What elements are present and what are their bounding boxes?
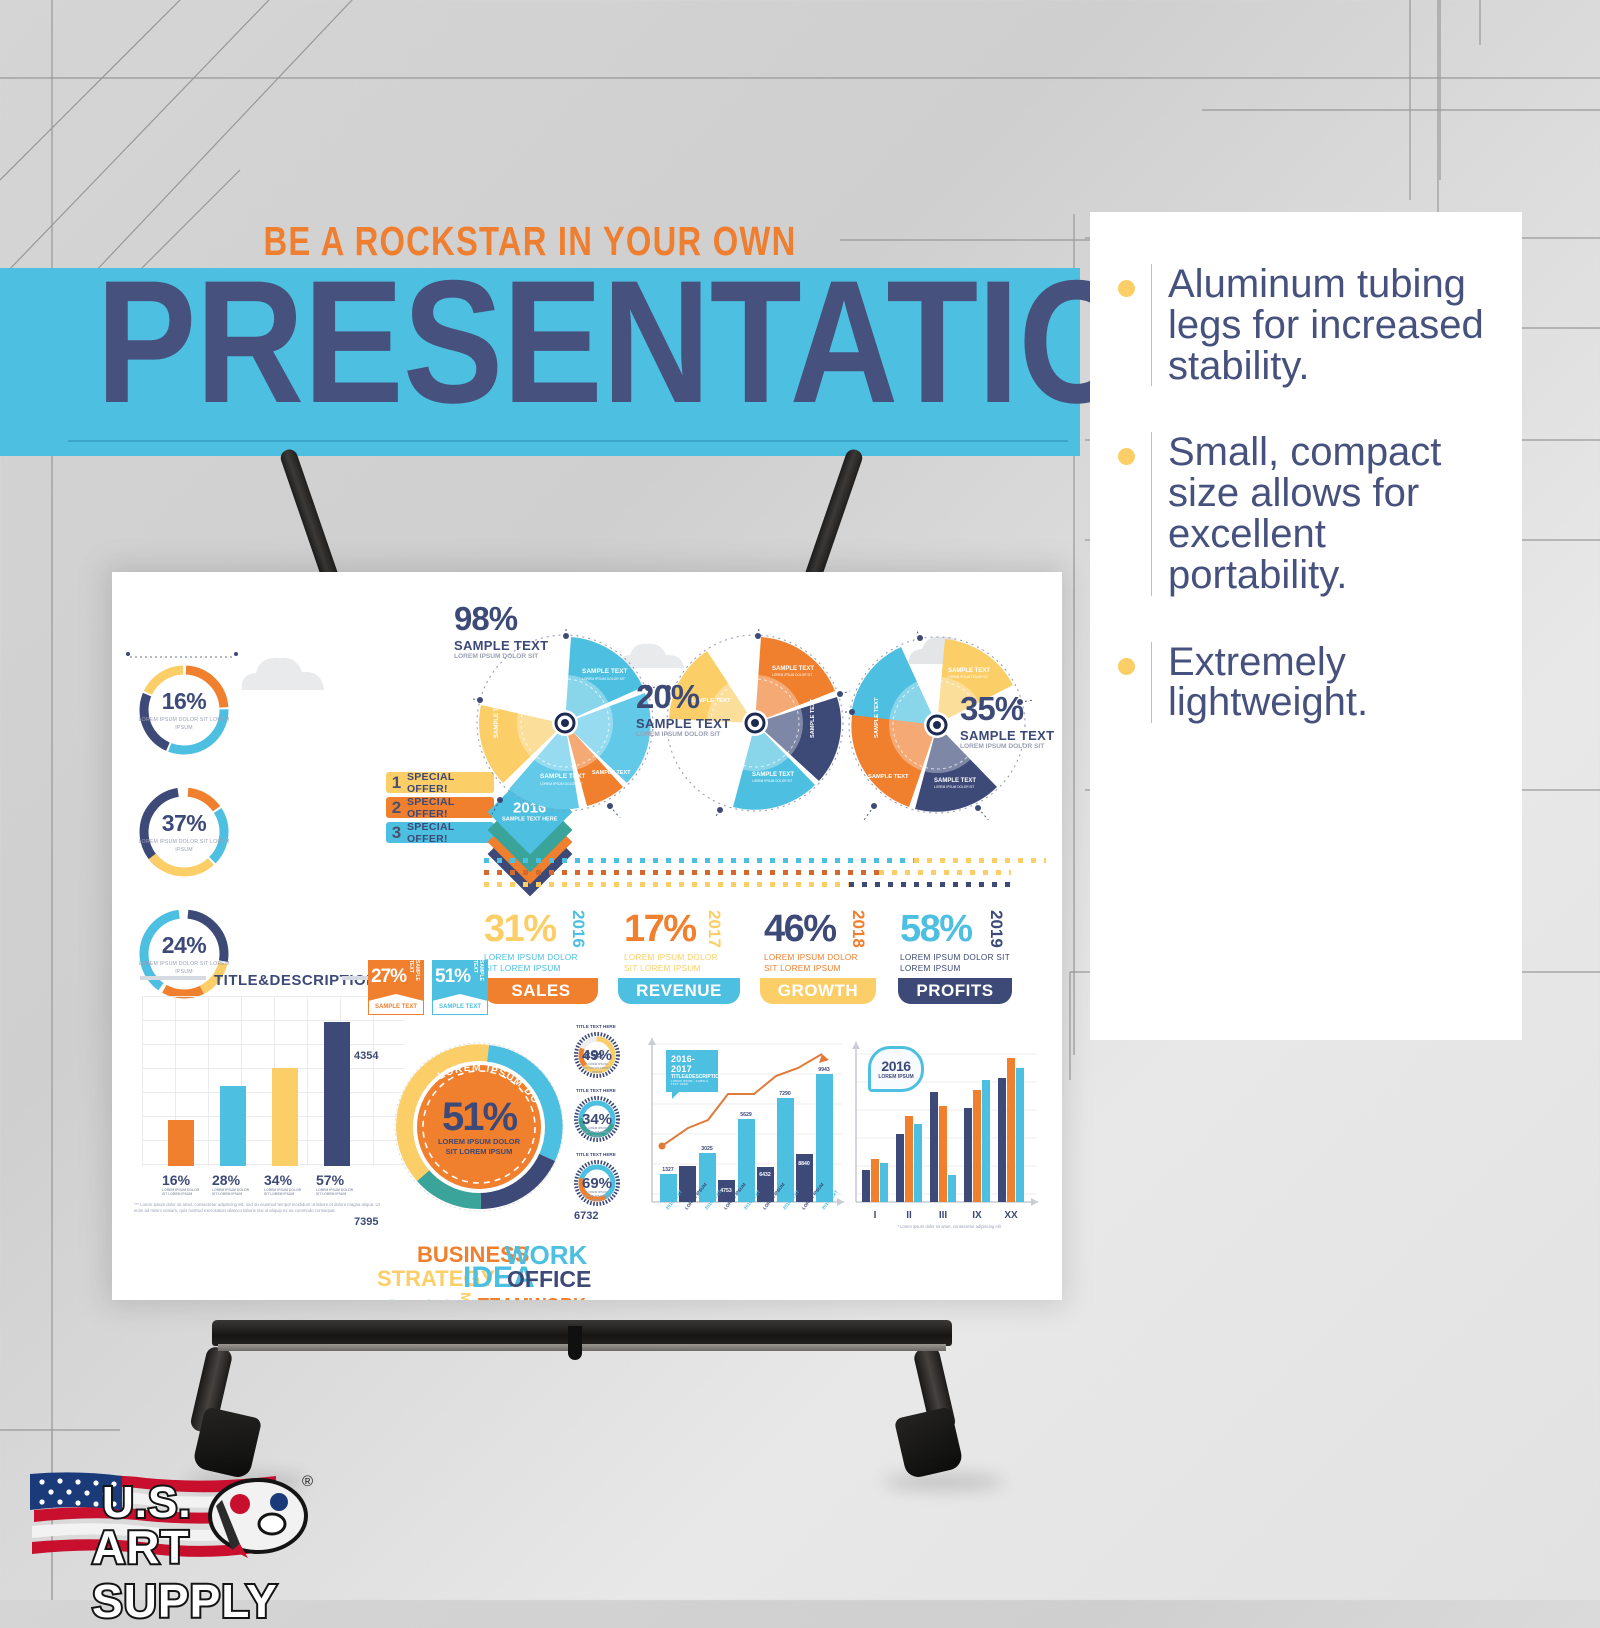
svg-text:2123: 2123 — [681, 1159, 693, 1165]
footnote-left: *** Lorem ipsum dolor sit amet, consecte… — [134, 1202, 384, 1214]
easel-upper-leg-right — [803, 447, 865, 585]
gauge-title: TITLE TEXT HERE — [576, 1152, 616, 1157]
offer-number: 3 — [386, 823, 407, 843]
radial-label: SAMPLE TEXT — [960, 728, 1054, 743]
bar-label: 16% — [162, 1172, 190, 1188]
bar-label: 57% — [316, 1172, 344, 1188]
svg-text:3025: 3025 — [701, 1146, 713, 1152]
donut-caption: LOREM IPSUM DOLOR SIT LOREM IPSUM — [138, 839, 230, 853]
offer-label: SPECIAL OFFER! — [407, 821, 494, 845]
svg-text:SAMPLE TEXT: SAMPLE TEXT — [934, 778, 976, 784]
donut-chart-1: 16%LOREM IPSUM DOLOR SIT LOREM IPSUM — [138, 664, 230, 756]
list-item: Small, compact size allows for excellent… — [1118, 432, 1506, 595]
gauge-69: 69% LOREM IPSUM DOLOR SIT LOREM IPSUM — [574, 1160, 620, 1206]
grouped-chart-subtitle: LOREM IPSUM — [878, 1074, 913, 1080]
bar-sublabel: LOREM IPSUM DOLOR SIT LOREM IPSUM — [264, 1188, 306, 1196]
bar-label: 28% — [212, 1172, 240, 1188]
kpi-revenue: 17% 2017 LOREM IPSUM DOLOR SIT LOREM IPS… — [624, 908, 732, 974]
kpi-pct: 58% — [900, 908, 972, 950]
easel-upper-leg-left — [278, 447, 340, 585]
list-item: Extremely lightweight. — [1118, 642, 1506, 724]
hero-callout-br: 6732 — [574, 1210, 598, 1222]
bar — [324, 1022, 350, 1166]
feature-text: Small, compact size allows for excellent… — [1151, 432, 1506, 595]
svg-text:8840: 8840 — [798, 1161, 810, 1167]
kpi-sub: LOREM IPSUM DOLOR SIT LOREM IPSUM — [624, 953, 732, 974]
kpi-year: 2016 — [568, 910, 588, 948]
bullet-dot-icon — [1118, 448, 1135, 465]
svg-text:III: III — [939, 1210, 948, 1221]
svg-text:II: II — [906, 1210, 912, 1221]
svg-text:7290: 7290 — [779, 1091, 791, 1097]
kpi-category-growth: GROWTH — [760, 978, 876, 1004]
kpi-year: 2017 — [704, 910, 724, 948]
donut-value: 37% — [162, 810, 207, 837]
kpi-category-sales: SALES — [484, 978, 598, 1004]
hero-value: 51% — [442, 1097, 516, 1137]
tag-27: 27% SAMPLE TEXT SAMPLE TEXT — [368, 960, 424, 1015]
svg-text:4753: 4753 — [720, 1188, 732, 1194]
donut-chart-2: 37%LOREM IPSUM DOLOR SIT LOREM IPSUM — [138, 786, 230, 878]
radial-sub: LOREM IPSUM DOLOR SIT — [636, 731, 730, 739]
svg-text:9943: 9943 — [818, 1067, 830, 1073]
hero-callout-tl: 4354 — [354, 1050, 378, 1062]
page-title: PRESENTATION — [96, 260, 922, 426]
gauge-title: TITLE TEXT HERE — [576, 1088, 616, 1093]
gauge-49: 49% LOREM IPSUM DOLOR SIT LOREM IPSUM — [574, 1032, 620, 1078]
kpi-sub: LOREM IPSUM DOLOR SIT LOREM IPSUM — [484, 953, 592, 974]
headline-area: BE A ROCKSTAR IN YOUR OWN PRESENTATION — [0, 200, 1080, 460]
radial-value: 98% — [454, 600, 548, 638]
title-underline — [68, 440, 1068, 442]
svg-text:XX: XX — [1004, 1210, 1018, 1221]
tag-caption: SAMPLE TEXT — [375, 1004, 417, 1010]
infographic-poster: 16%LOREM IPSUM DOLOR SIT LOREM IPSUM 37%… — [112, 572, 1062, 1300]
svg-text:SAMPLE TEXT: SAMPLE TEXT — [592, 770, 631, 776]
radial-sub: LOREM IPSUM DOLOR SIT — [960, 743, 1054, 751]
tag-51: 51% SAMPLE TEXT SAMPLE TEXT — [432, 960, 488, 1015]
svg-text:LOREM IPSUM DOLOR SIT: LOREM IPSUM DOLOR SIT — [540, 782, 583, 786]
combo-chart-title: 2016-2017 — [671, 1054, 713, 1074]
hero-callout-bl: 7395 — [354, 1216, 378, 1228]
kpi-sales: 31% 2016 LOREM IPSUM DOLOR SIT LOREM IPS… — [484, 908, 592, 974]
feature-text: Aluminum tubing legs for increased stabi… — [1151, 264, 1506, 386]
svg-text:SAMPLE TEXT: SAMPLE TEXT — [582, 668, 628, 675]
bullet-dot-icon — [1118, 658, 1135, 675]
svg-text:I: I — [874, 1210, 877, 1221]
tag-side: SAMPLE TEXT — [472, 960, 484, 994]
svg-text:SAMPLE TEXT: SAMPLE TEXT — [948, 668, 990, 674]
kpi-year: 2018 — [848, 910, 868, 948]
radial-35-label: 35% SAMPLE TEXT LOREM IPSUM DOLOR SIT — [960, 690, 1054, 751]
svg-text:SAMPLE TEXT: SAMPLE TEXT — [752, 772, 794, 778]
bar — [220, 1086, 246, 1166]
kpi-year: 2019 — [986, 910, 1006, 948]
radial-label: SAMPLE TEXT — [636, 716, 730, 731]
special-offer-row-3[interactable]: 3 SPECIAL OFFER! — [386, 822, 494, 843]
svg-text:SAMPLE TEXT: SAMPLE TEXT — [874, 697, 880, 738]
svg-text:LOREM IPSUM DOLOR SIT: LOREM IPSUM DOLOR SIT — [934, 785, 974, 789]
tag-caption: SAMPLE TEXT — [439, 1004, 481, 1010]
wordcloud-word: TEAMWORK — [478, 1296, 586, 1300]
list-item: Aluminum tubing legs for increased stabi… — [1118, 264, 1506, 386]
kpi-sub: LOREM IPSUM DOLOR SIT LOREM IPSUM — [900, 953, 1012, 974]
bar — [272, 1068, 298, 1166]
radial-value: 20% — [636, 678, 730, 716]
bar — [168, 1120, 194, 1166]
kpi-category-profits: PROFITS — [898, 978, 1012, 1004]
radial-20-label: 20% SAMPLE TEXT LOREM IPSUM DOLOR SIT — [636, 678, 730, 739]
tag-value: 27% — [371, 966, 406, 988]
wordcloud-word: MEETING — [459, 1292, 473, 1300]
svg-text:SAMPLE TEXT: SAMPLE TEXT — [540, 773, 586, 780]
bar-chart-1 — [142, 996, 404, 1166]
svg-text:SAMPLE TEXT: SAMPLE TEXT — [810, 698, 816, 738]
offer-number: 2 — [386, 798, 407, 818]
grouped-bar-chart-2016: IIIIIIIXXX — [836, 1024, 1050, 1236]
gauge-sub: LOREM IPSUM DOLOR SIT LOREM IPSUM — [581, 1190, 613, 1202]
svg-text:SAMPLE TEXT: SAMPLE TEXT — [494, 696, 500, 738]
svg-text:5629: 5629 — [740, 1112, 752, 1118]
svg-text:LOREM IPSUM DOLOR SIT: LOREM IPSUM DOLOR SIT — [582, 677, 625, 681]
kpi-profits: 58% 2019 LOREM IPSUM DOLOR SIT LOREM IPS… — [900, 908, 1012, 974]
wordcloud-word: OFFICE — [507, 1268, 591, 1291]
kpi-pct: 17% — [624, 908, 696, 950]
kpi-growth: 46% 2018 LOREM IPSUM DOLOR SIT LOREM IPS… — [764, 908, 872, 974]
presentation-board: 16%LOREM IPSUM DOLOR SIT LOREM IPSUM 37%… — [112, 572, 1062, 1300]
svg-text:6432: 6432 — [759, 1172, 771, 1178]
grouped-chart-title: 2016 — [881, 1058, 910, 1074]
feature-text: Extremely lightweight. — [1151, 642, 1506, 724]
svg-text:IX: IX — [972, 1210, 982, 1221]
tag-value: 51% — [435, 966, 470, 988]
kpi-pct: 46% — [764, 908, 836, 950]
footnote-right: * Lorem ipsum dolor sit amet, consectetu… — [864, 1224, 1034, 1229]
hero-sub: LOREM IPSUM DOLOR SIT LOREM IPSUM — [432, 1137, 526, 1157]
bar-sublabel: LOREM IPSUM DOLOR SIT LOREM IPSUM — [316, 1188, 358, 1196]
easel-hinge — [568, 1326, 582, 1360]
svg-text:LOREM IPSUM DOLOR SIT: LOREM IPSUM DOLOR SIT — [752, 779, 792, 783]
feature-list: Aluminum tubing legs for increased stabi… — [1118, 264, 1506, 769]
easel-crossbar — [212, 1320, 952, 1346]
bar-label: 34% — [264, 1172, 292, 1188]
radial-sub: LOREM IPSUM DOLOR SIT — [454, 653, 548, 661]
word-cloud: BUSINESS WORK STRATEGY IDEA OFFICE SUCCE… — [377, 1244, 577, 1300]
gauge-sub: LOREM IPSUM DOLOR SIT LOREM IPSUM — [581, 1126, 613, 1138]
cloud-icon — [232, 650, 352, 698]
chart-title: TITLE&DESCRIPTION — [214, 972, 378, 989]
combo-chart-callout: 2016-2017 TITLE&DESCRIPTION LOREM IPSUM … — [666, 1050, 718, 1092]
svg-text:SAMPLE TEXT: SAMPLE TEXT — [868, 774, 909, 780]
bullet-dot-icon — [1118, 280, 1135, 297]
donut-value: 16% — [162, 688, 207, 715]
feature-panel: Aluminum tubing legs for increased stabi… — [1090, 212, 1522, 1040]
hero-circle-chart: LOREM IPSUM DOLOR 51% LOREM IPSUM DOLOR … — [384, 1032, 574, 1222]
svg-text:LOREM IPSUM DOLOR SIT: LOREM IPSUM DOLOR SIT — [948, 675, 988, 679]
logo-line-2: ART SUPPLY — [92, 1520, 316, 1628]
grouped-chart-callout: 2016 LOREM IPSUM — [868, 1046, 924, 1092]
tag-side: SAMPLE TEXT — [408, 960, 420, 994]
gauge-34: 34% LOREM IPSUM DOLOR SIT LOREM IPSUM — [574, 1096, 620, 1142]
svg-text:LOREM IPSUM DOLOR SIT: LOREM IPSUM DOLOR SIT — [772, 673, 812, 677]
easel-foot-left — [192, 1406, 262, 1479]
bar-sublabel: LOREM IPSUM DOLOR SIT LOREM IPSUM — [162, 1188, 204, 1196]
svg-text:®: ® — [302, 1473, 313, 1490]
foot-shadow-right — [884, 1474, 1004, 1490]
radial-label: SAMPLE TEXT — [454, 638, 548, 653]
brand-logo: ® U.S. ART SUPPLY — [26, 1472, 316, 1584]
offer-number: 1 — [386, 773, 407, 793]
bar-sublabel: LOREM IPSUM DOLOR SIT LOREM IPSUM — [212, 1188, 254, 1196]
svg-text:1327: 1327 — [662, 1167, 674, 1173]
radial-98-label: 98% SAMPLE TEXT LOREM IPSUM DOLOR SIT — [454, 600, 548, 661]
dot-pattern-rows-2 — [914, 858, 1046, 887]
svg-text:SAMPLE TEXT: SAMPLE TEXT — [772, 666, 814, 672]
kpi-category-revenue: REVENUE — [618, 978, 740, 1004]
gauge-sub: LOREM IPSUM DOLOR SIT LOREM IPSUM — [581, 1062, 613, 1074]
kpi-sub: LOREM IPSUM DOLOR SIT LOREM IPSUM — [764, 953, 872, 974]
kpi-pct: 31% — [484, 908, 556, 950]
gauge-title: TITLE TEXT HERE — [576, 1024, 616, 1029]
title-rule-left — [140, 976, 206, 980]
donut-value: 24% — [162, 932, 207, 959]
donut-caption: LOREM IPSUM DOLOR SIT LOREM IPSUM — [138, 717, 230, 731]
radial-value: 35% — [960, 690, 1054, 728]
